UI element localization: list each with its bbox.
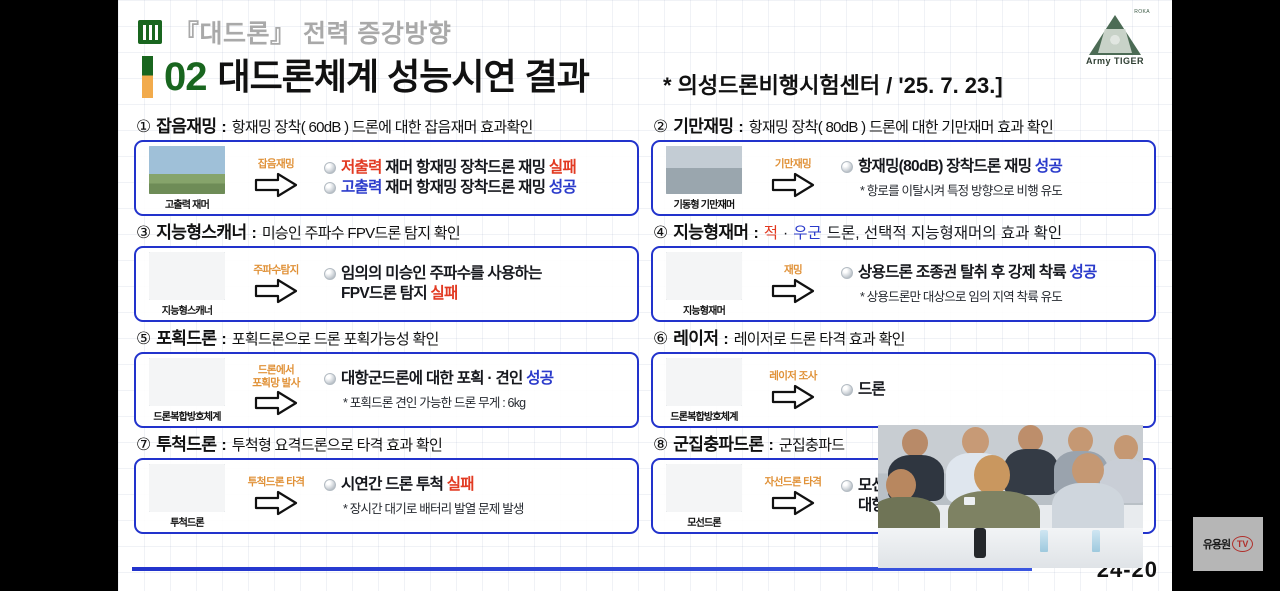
equipment-illustration: [666, 464, 742, 512]
text-run: 우군: [793, 221, 822, 243]
text-run: 실패: [431, 285, 458, 302]
arrow-right-icon: [771, 384, 815, 410]
watermark-tv-badge: TV: [1232, 536, 1253, 552]
slide-header-title: 『대드론』 전력 증강방향: [174, 14, 451, 50]
item-thumbnail-group: 투척드론: [144, 464, 230, 529]
item-term: 지능형스캐너: [156, 218, 246, 243]
item-colon: :: [753, 225, 758, 243]
text-run: 적: [764, 221, 778, 243]
result-line: 고출력 재머 항재밍 장착드론 재밍 성공: [324, 178, 631, 198]
item-box: 고출력 재머 잡음재밍 저출력 재머 항재밍 장착드론 재밍 실패고출력 재머 …: [134, 140, 639, 216]
item-thumbnail-group: 기동형 기만재머: [661, 146, 747, 211]
item-thumbnail-group: 지능형재머: [661, 252, 747, 317]
arrow-right-icon: [771, 278, 815, 304]
item-number: ④: [653, 223, 668, 243]
text-run: 상용드론 조종권 탈취 후 강제 착륙: [858, 264, 1069, 281]
item-description: 투척형 요격드론으로 타격 효과 확인: [232, 434, 442, 455]
text-run: FPV드론 탐지: [341, 285, 431, 302]
result-text: 대항군드론에 대한 포획 · 견인 성공: [341, 369, 553, 389]
result-item-4: ④ 지능형재머 : 적 · 우군 드론, 선택적 지능형재머의 효과 확인 지능…: [651, 218, 1156, 322]
item-thumbnail-group: 드론복합방호체계: [144, 358, 230, 423]
arrow-group: 주파수탐지: [230, 264, 322, 303]
item-results: 임의의 미승인 주파수를 사용하는FPV드론 탐지 실패: [322, 264, 631, 305]
item-results: 시연간 드론 투척 실패* 장시간 대기로 배터리 발열 문제 발생: [322, 475, 631, 516]
text-run: 저출력: [341, 159, 382, 176]
item-term: 기만재밍: [673, 112, 733, 137]
equipment-photo: [666, 464, 742, 512]
equipment-photo: [149, 358, 225, 406]
result-note: * 상용드론만 대상으로 임의 지역 착륙 유도: [841, 286, 1148, 305]
arrow-right-icon: [254, 172, 298, 198]
equipment-illustration: [149, 358, 225, 406]
result-text: FPV드론 탐지 실패: [341, 284, 458, 304]
result-line: 상용드론 조종권 탈취 후 강제 착륙 성공: [841, 263, 1148, 283]
item-number: ⑧: [653, 435, 668, 455]
text-run: 실패: [549, 159, 576, 176]
arrow-group: 레이저 조사: [747, 370, 839, 409]
text-run: 항재밍(80dB) 장착드론 재밍: [858, 158, 1035, 175]
three-bars-icon: [138, 20, 162, 44]
bullet-icon: [841, 384, 853, 396]
bullet-icon: [841, 161, 853, 173]
text-run: 성공: [526, 370, 553, 387]
text-run: 대항군드론에 대한 포획 · 견인: [341, 370, 526, 387]
equipment-illustration: [666, 252, 742, 300]
item-thumbnail-group: 고출력 재머: [144, 146, 230, 211]
pip-person-body: [1004, 449, 1058, 495]
video-player-stage: 『대드론』 전력 증강방향 ROKA Army TIGER 02 대드론체계 성…: [0, 0, 1280, 591]
item-term: 지능형재머: [673, 218, 748, 243]
pip-microphone: [974, 528, 986, 558]
result-text: 상용드론 조종권 탈취 후 강제 착륙 성공: [858, 263, 1097, 283]
result-line: 임의의 미승인 주파수를 사용하는: [324, 264, 631, 284]
channel-watermark: 유용원 TV: [1193, 517, 1263, 571]
result-text: 시연간 드론 투척 실패: [341, 475, 474, 495]
equipment-caption: 드론복합방호체계: [153, 408, 220, 423]
item-term: 포획드론: [156, 324, 216, 349]
result-line: 대항군드론에 대한 포획 · 견인 성공: [324, 369, 631, 389]
arrow-group: 기만재밍: [747, 158, 839, 197]
item-number: ⑦: [136, 435, 151, 455]
equipment-photo: [666, 358, 742, 406]
arrow-right-icon: [771, 490, 815, 516]
item-description: 포획드론으로 드론 포획가능성 확인: [232, 328, 439, 349]
section-number: 02: [164, 57, 207, 97]
item-heading: ② 기만재밍 : 항재밍 장착( 80dB ) 드론에 대한 기만재머 효과 확…: [651, 112, 1156, 137]
equipment-caption: 드론복합방호체계: [670, 408, 737, 423]
pip-conference-table: [878, 528, 1143, 568]
text-run: 임의의 미승인 주파수를 사용하는: [341, 265, 542, 282]
text-run: 시연간 드론 투척: [341, 476, 447, 493]
item-thumbnail-group: 모선드론: [661, 464, 747, 529]
arrow-label: 재밍: [784, 264, 802, 276]
equipment-caption: 고출력 재머: [165, 196, 209, 211]
item-heading: ⑥ 레이저 : 레이저로 드론 타격 효과 확인: [651, 324, 1156, 349]
item-results: 대항군드론에 대한 포획 · 견인 성공* 포획드론 견인 가능한 드론 무게 …: [322, 369, 631, 410]
item-results: 상용드론 조종권 탈취 후 강제 착륙 성공* 상용드론만 대상으로 임의 지역…: [839, 263, 1148, 304]
result-text: 저출력 재머 항재밍 장착드론 재밍 실패: [341, 158, 576, 178]
arrow-group: 드론에서 포획망 발사: [230, 364, 322, 415]
text-run: 실패: [447, 476, 474, 493]
item-colon: :: [723, 331, 728, 349]
slide-header: 『대드론』 전력 증강방향: [138, 14, 451, 50]
arrow-label: 자선드론 타격: [765, 476, 822, 488]
equipment-illustration: [149, 146, 225, 194]
result-text: 임의의 미승인 주파수를 사용하는: [341, 264, 542, 284]
text-run: 재머 항재밍 장착드론 재밍: [382, 179, 549, 196]
pip-water-bottle: [1092, 530, 1100, 552]
bullet-icon: [841, 267, 853, 279]
result-text: 드론: [858, 380, 885, 400]
item-results: 저출력 재머 항재밍 장착드론 재밍 실패고출력 재머 항재밍 장착드론 재밍 …: [322, 158, 631, 199]
result-item-6: ⑥ 레이저 : 레이저로 드론 타격 효과 확인 드론복합방호체계 레이저 조사…: [651, 324, 1156, 428]
text-run: 성공: [549, 179, 576, 196]
equipment-photo: [149, 464, 225, 512]
arrow-label: 잡음재밍: [258, 158, 294, 170]
bullet-icon: [324, 268, 336, 280]
item-colon: :: [221, 437, 226, 455]
result-item-7: ⑦ 투척드론 : 투척형 요격드론으로 타격 효과 확인 투척드론 투척드론 타…: [134, 430, 639, 534]
logo-name: Army TIGER: [1086, 56, 1144, 66]
item-box: 드론복합방호체계 드론에서 포획망 발사 대항군드론에 대한 포획 · 견인 성…: [134, 352, 639, 428]
result-line: FPV드론 탐지 실패: [324, 284, 631, 304]
bullet-icon: [324, 373, 336, 385]
item-box: 지능형스캐너 주파수탐지 임의의 미승인 주파수를 사용하는FPV드론 탐지 실…: [134, 246, 639, 322]
equipment-caption: 지능형스캐너: [162, 302, 212, 317]
item-heading: ① 잡음재밍 : 항재밍 장착( 60dB ) 드론에 대한 잡음재머 효과확인: [134, 112, 639, 137]
result-item-3: ③ 지능형스캐너 : 미승인 주파수 FPV드론 탐지 확인 지능형스캐너 주파…: [134, 218, 639, 322]
item-box: 투척드론 투척드론 타격 시연간 드론 투척 실패* 장시간 대기로 배터리 발…: [134, 458, 639, 534]
result-item-5: ⑤ 포획드론 : 포획드론으로 드론 포획가능성 확인 드론복합방호체계 드론에…: [134, 324, 639, 428]
item-term: 투척드론: [156, 430, 216, 455]
text-run: 재머 항재밍 장착드론 재밍: [382, 159, 549, 176]
pip-water-bottle: [1040, 530, 1048, 552]
text-run: 성공: [1069, 264, 1096, 281]
item-colon: :: [738, 119, 743, 137]
equipment-caption: 모선드론: [687, 514, 721, 529]
item-results: 항재밍(80dB) 장착드론 재밍 성공* 항로를 이탈시켜 특정 방향으로 비…: [839, 157, 1148, 198]
result-note: * 장시간 대기로 배터리 발열 문제 발생: [324, 498, 631, 517]
item-number: ⑤: [136, 329, 151, 349]
pip-person-head: [962, 427, 989, 456]
section-name: 대드론체계 성능시연 결과: [218, 59, 589, 95]
arrow-label: 기만재밍: [775, 158, 811, 170]
arrow-right-icon: [771, 172, 815, 198]
section-title: 02 대드론체계 성능시연 결과: [142, 56, 589, 98]
equipment-photo: [666, 252, 742, 300]
result-text: 항재밍(80dB) 장착드론 재밍 성공: [858, 157, 1062, 177]
item-heading: ④ 지능형재머 : 적 · 우군 드론, 선택적 지능형재머의 효과 확인: [651, 218, 1156, 243]
section-note: * 의성드론비행시험센터 / '25. 7. 23.]: [663, 68, 1003, 100]
item-box: 기동형 기만재머 기만재밍 항재밍(80dB) 장착드론 재밍 성공* 항로를 …: [651, 140, 1156, 216]
pip-speaker-head: [974, 455, 1010, 495]
bullet-icon: [324, 479, 336, 491]
item-description: 미승인 주파수 FPV드론 탐지 확인: [262, 222, 460, 243]
pip-person-head: [1068, 427, 1093, 454]
arrow-label: 레이저 조사: [769, 370, 817, 382]
item-number: ①: [136, 117, 151, 137]
result-item-1: ① 잡음재밍 : 항재밍 장착( 60dB ) 드론에 대한 잡음재머 효과확인…: [134, 112, 639, 216]
item-heading: ③ 지능형스캐너 : 미승인 주파수 FPV드론 탐지 확인: [134, 218, 639, 243]
equipment-caption: 투척드론: [170, 514, 204, 529]
item-thumbnail-group: 지능형스캐너: [144, 252, 230, 317]
result-note: * 포획드론 견인 가능한 드론 무게 : 6kg: [324, 392, 631, 411]
arrow-right-icon: [254, 490, 298, 516]
equipment-caption: 기동형 기만재머: [674, 196, 735, 211]
army-tiger-logo: ROKA Army TIGER: [1072, 6, 1158, 66]
equipment-illustration: [666, 358, 742, 406]
result-item-2: ② 기만재밍 : 항재밍 장착( 80dB ) 드론에 대한 기만재머 효과 확…: [651, 112, 1156, 216]
item-colon: :: [221, 331, 226, 349]
section-accent-bar: [142, 56, 153, 98]
item-heading: ⑦ 투척드론 : 투척형 요격드론으로 타격 효과 확인: [134, 430, 639, 455]
item-number: ②: [653, 117, 668, 137]
pip-korean-flag-patch: [964, 497, 975, 505]
item-number: ⑥: [653, 329, 668, 349]
equipment-caption: 지능형재머: [683, 302, 725, 317]
item-term: 잡음재밍: [156, 112, 216, 137]
arrow-group: 재밍: [747, 264, 839, 303]
arrow-label: 투척드론 타격: [248, 476, 305, 488]
bullet-icon: [841, 480, 853, 492]
arrow-right-icon: [254, 390, 298, 416]
picture-in-picture-video[interactable]: [878, 425, 1143, 568]
pip-person-head: [1072, 453, 1104, 487]
arrow-right-icon: [254, 278, 298, 304]
equipment-photo: [666, 146, 742, 194]
text-run: ·: [783, 225, 788, 243]
item-term: 군집충파드론: [673, 430, 763, 455]
item-box: 지능형재머 재밍 상용드론 조종권 탈취 후 강제 착륙 성공* 상용드론만 대…: [651, 246, 1156, 322]
equipment-photo: [149, 146, 225, 194]
item-heading: ⑤ 포획드론 : 포획드론으로 드론 포획가능성 확인: [134, 324, 639, 349]
pip-person-head: [1018, 425, 1043, 452]
result-line: 저출력 재머 항재밍 장착드론 재밍 실패: [324, 158, 631, 178]
item-box: 드론복합방호체계 레이저 조사 드론: [651, 352, 1156, 428]
result-line: 시연간 드론 투척 실패: [324, 475, 631, 495]
text-run: 드론, 선택적 지능형재머의 효과 확인: [827, 221, 1062, 243]
result-text: 고출력 재머 항재밍 장착드론 재밍 성공: [341, 178, 576, 198]
bullet-icon: [324, 182, 336, 194]
watermark-text: 유용원: [1203, 536, 1230, 552]
arrow-group: 투척드론 타격: [230, 476, 322, 515]
equipment-illustration: [149, 252, 225, 300]
item-description: 레이저로 드론 타격 효과 확인: [734, 328, 905, 349]
result-note: * 항로를 이탈시켜 특정 방향으로 비행 유도: [841, 180, 1148, 199]
equipment-illustration: [149, 464, 225, 512]
item-description: 항재밍 장착( 80dB ) 드론에 대한 기만재머 효과 확인: [749, 116, 1053, 137]
item-description: 군집충파드: [779, 434, 845, 455]
item-colon: :: [769, 437, 774, 455]
equipment-illustration: [666, 146, 742, 194]
item-number: ③: [136, 223, 151, 243]
item-colon: :: [252, 225, 257, 243]
arrow-label: 주파수탐지: [253, 264, 298, 276]
bullet-icon: [324, 162, 336, 174]
result-line: 드론: [841, 380, 1148, 400]
item-thumbnail-group: 드론복합방호체계: [661, 358, 747, 423]
item-term: 레이저: [673, 324, 718, 349]
arrow-group: 잡음재밍: [230, 158, 322, 197]
item-description: 항재밍 장착( 60dB ) 드론에 대한 잡음재머 효과확인: [232, 116, 533, 137]
item-results: 드론: [839, 380, 1148, 400]
arrow-group: 자선드론 타격: [747, 476, 839, 515]
arrow-label: 드론에서 포획망 발사: [252, 364, 300, 388]
equipment-photo: [149, 252, 225, 300]
logo-triangle-icon: [1089, 15, 1141, 55]
item-colon: :: [221, 119, 226, 137]
pip-person-head: [1114, 435, 1138, 461]
text-run: 고출력: [341, 179, 382, 196]
text-run: 성공: [1035, 158, 1062, 175]
result-line: 항재밍(80dB) 장착드론 재밍 성공: [841, 157, 1148, 177]
pip-person-head: [902, 429, 928, 457]
text-run: 드론: [858, 381, 885, 398]
